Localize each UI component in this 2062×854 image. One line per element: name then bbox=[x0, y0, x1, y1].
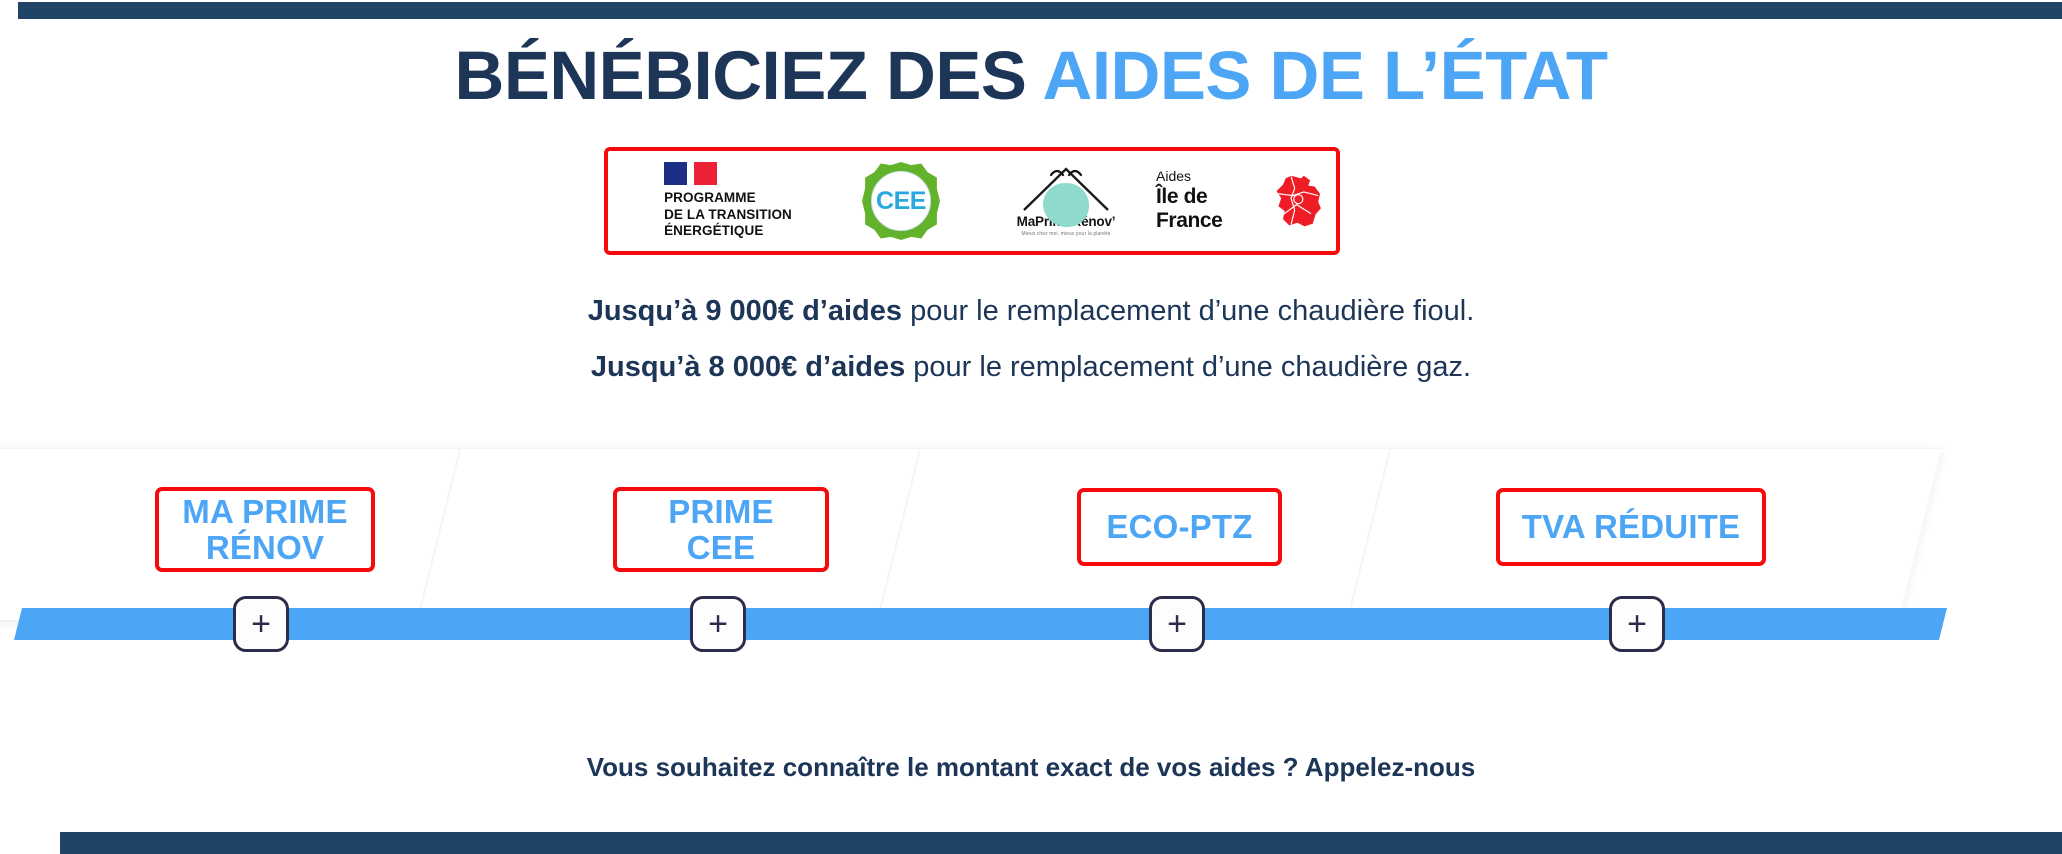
plus-icon: + bbox=[251, 607, 271, 641]
french-flag-icon bbox=[664, 162, 792, 185]
aids-banner: MA PRIME RÉNOV PRIME CEE ECO-PTZ TVA RÉD… bbox=[0, 448, 2062, 668]
aid-button-tva-reduite[interactable]: TVA RÉDUITE bbox=[1496, 488, 1766, 566]
contact-question: Vous souhaitez connaître le montant exac… bbox=[0, 752, 2062, 783]
aid-button-eco-ptz[interactable]: ECO-PTZ bbox=[1077, 488, 1282, 566]
top-divider-bar bbox=[18, 2, 2062, 19]
ptr-line-1: PROGRAMME bbox=[664, 190, 792, 206]
logo-programme-transition-energetique: PROGRAMME DE LA TRANSITION ÉNERGÉTIQUE bbox=[608, 151, 826, 251]
aid-button-ma-prime-renov[interactable]: MA PRIME RÉNOV bbox=[155, 487, 375, 572]
bottom-divider-bar bbox=[60, 832, 2062, 854]
maprimerenov-tagline: Mieux chez moi, mieux pour la planète bbox=[991, 231, 1141, 237]
aid-amount-gaz-bold: Jusqu’à 8 000€ d’aides bbox=[591, 351, 905, 383]
page-title-light-part: AIDES DE L’ÉTAT bbox=[1043, 37, 1608, 114]
idf-line-2: Île de France bbox=[1156, 185, 1267, 233]
aid-amount-lines: Jusqu’à 9 000€ d’aides pour le remplacem… bbox=[0, 283, 2062, 395]
aid-button-tva-reduite-label: TVA RÉDUITE bbox=[1522, 509, 1741, 545]
expand-button-tva-reduite[interactable]: + bbox=[1609, 596, 1665, 652]
house-roof-icon bbox=[991, 166, 1141, 212]
aid-button-prime-cee-line1: PRIME bbox=[668, 493, 774, 530]
aid-button-prime-cee[interactable]: PRIME CEE bbox=[613, 487, 829, 572]
aid-amount-line-gaz: Jusqu’à 8 000€ d’aides pour le remplacem… bbox=[0, 339, 2062, 395]
ile-de-france-map-icon bbox=[1273, 171, 1324, 231]
page-title: BÉNÉBICIEZ DES AIDES DE L’ÉTAT bbox=[0, 40, 2062, 112]
aid-button-eco-ptz-label: ECO-PTZ bbox=[1106, 509, 1252, 545]
expand-button-eco-ptz[interactable]: + bbox=[1149, 596, 1205, 652]
aid-button-ma-prime-renov-line2: RÉNOV bbox=[206, 529, 324, 566]
ptr-line-3: ÉNERGÉTIQUE bbox=[664, 223, 792, 239]
aid-amount-fioul-rest: pour le remplacement d’une chaudière fio… bbox=[902, 295, 1474, 327]
cee-label: CEE bbox=[876, 187, 926, 216]
plus-icon: + bbox=[1627, 607, 1647, 641]
idf-line-1: Aides bbox=[1156, 169, 1267, 183]
smiley-eyes-icon bbox=[1049, 166, 1083, 178]
aid-amount-fioul-bold: Jusqu’à 9 000€ d’aides bbox=[588, 295, 902, 327]
aid-button-ma-prime-renov-line1: MA PRIME bbox=[182, 493, 347, 530]
logo-maprimerenov: MaPrimeRénov’ Mieux chez moi, mieux pour… bbox=[976, 151, 1156, 251]
ptr-line-2: DE LA TRANSITION bbox=[664, 207, 792, 223]
page-title-dark-part: BÉNÉBICIEZ DES bbox=[454, 37, 1042, 114]
cee-badge-icon: CEE bbox=[862, 162, 940, 240]
partner-logo-strip: PROGRAMME DE LA TRANSITION ÉNERGÉTIQUE C… bbox=[604, 147, 1340, 255]
plus-icon: + bbox=[1167, 607, 1187, 641]
aid-amount-gaz-rest: pour le remplacement d’une chaudière gaz… bbox=[905, 351, 1471, 383]
plus-icon: + bbox=[708, 607, 728, 641]
aid-button-prime-cee-line2: CEE bbox=[687, 529, 755, 566]
logo-aides-ile-de-france: Aides Île de France bbox=[1156, 151, 1336, 251]
aid-amount-line-fioul: Jusqu’à 9 000€ d’aides pour le remplacem… bbox=[0, 283, 2062, 339]
expand-button-prime-cee[interactable]: + bbox=[690, 596, 746, 652]
expand-button-ma-prime-renov[interactable]: + bbox=[233, 596, 289, 652]
logo-cee: CEE bbox=[826, 151, 976, 251]
